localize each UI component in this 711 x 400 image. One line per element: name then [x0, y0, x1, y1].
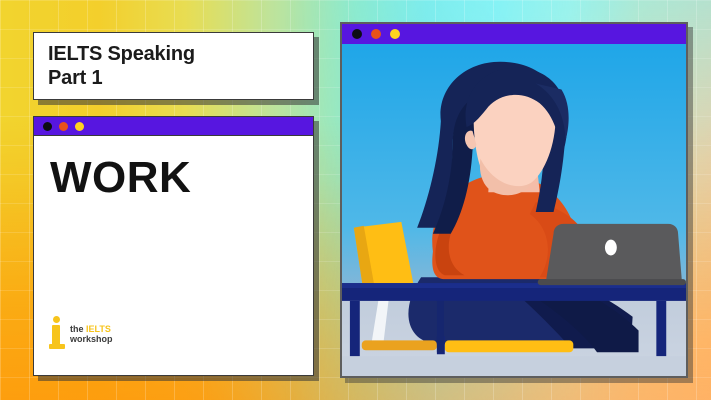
- logo-word-workshop: workshop: [70, 334, 113, 344]
- logo-line-the-ielts: the IELTS: [70, 324, 113, 334]
- maximize-dot[interactable]: [390, 29, 400, 39]
- title-card: IELTS Speaking Part 1: [33, 32, 314, 100]
- illustration-canvas: [342, 44, 686, 376]
- illustration-window: [340, 22, 688, 378]
- topic-window-body: WORK the IELTS workshop: [34, 136, 313, 375]
- logo-word-ielts: IELTS: [86, 324, 111, 334]
- topic-window: WORK the IELTS workshop: [33, 116, 314, 376]
- topic-window-titlebar: [34, 117, 313, 136]
- desk-leg-right: [656, 301, 666, 356]
- brand-logo: the IELTS workshop: [49, 315, 113, 349]
- chair-seat-left: [362, 340, 437, 350]
- logo-word-the: the: [70, 324, 86, 334]
- close-dot[interactable]: [43, 122, 52, 131]
- laptop-hinge: [538, 279, 686, 285]
- title-line-1: IELTS Speaking: [48, 42, 313, 66]
- desk-leg-left: [350, 301, 360, 356]
- logo-wordmark: the IELTS workshop: [70, 324, 113, 349]
- maximize-dot[interactable]: [75, 122, 84, 131]
- minimize-dot[interactable]: [59, 122, 68, 131]
- close-dot[interactable]: [352, 29, 362, 39]
- workspace-illustration: [342, 44, 686, 376]
- logo-i-dot-icon: [53, 316, 60, 323]
- topic-heading: WORK: [50, 154, 313, 202]
- laptop-logo-icon: [605, 240, 617, 256]
- title-line-2: Part 1: [48, 66, 313, 90]
- minimize-dot[interactable]: [371, 29, 381, 39]
- illustration-window-titlebar: [342, 24, 686, 44]
- logo-i-foot-icon: [49, 344, 65, 349]
- floor-foreground: [342, 356, 686, 376]
- desk-leg-mid: [437, 301, 444, 352]
- chair-seat-right: [445, 340, 574, 352]
- logo-i-mark-icon: [49, 315, 65, 349]
